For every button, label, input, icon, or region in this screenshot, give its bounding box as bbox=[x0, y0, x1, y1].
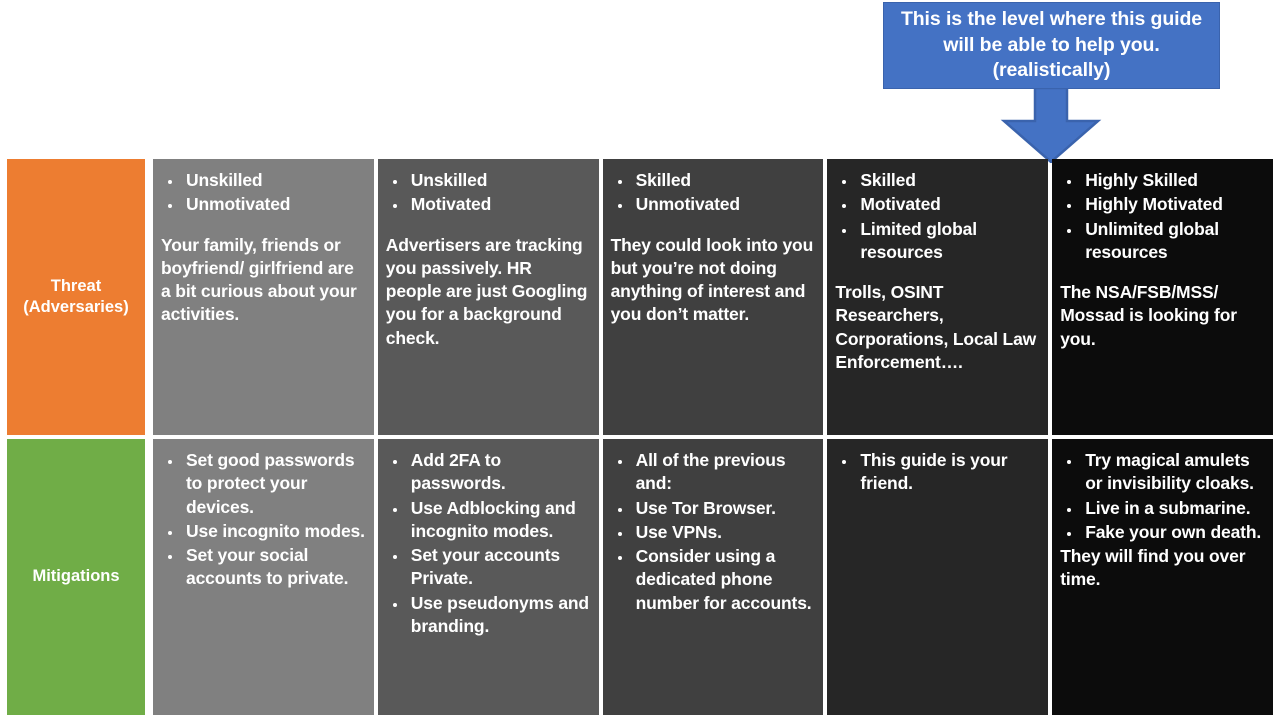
list-item: Skilled bbox=[633, 169, 816, 192]
row-header-threat: Threat (Adversaries) bbox=[7, 159, 145, 435]
list-item: Use VPNs. bbox=[633, 521, 816, 544]
arrow-down-icon bbox=[988, 88, 1114, 163]
mitigations-cell-level-4: This guide is your friend. bbox=[827, 439, 1048, 715]
list-item: Unmotivated bbox=[633, 193, 816, 216]
list-item: Try magical amulets or invisibility cloa… bbox=[1082, 449, 1265, 496]
threat-description-level-5: The NSA/FSB/MSS/ Mossad is looking for y… bbox=[1060, 281, 1265, 351]
row-header-gap bbox=[145, 159, 153, 435]
list-item: Use Adblocking and incognito modes. bbox=[408, 497, 591, 544]
mitigations-bullets-level-1: Set good passwords to protect your devic… bbox=[161, 449, 366, 591]
list-item: Motivated bbox=[408, 193, 591, 216]
list-item: Unlimited global resources bbox=[1082, 218, 1265, 265]
list-item: Add 2FA to passwords. bbox=[408, 449, 591, 496]
threat-cell-level-4: Skilled Motivated Limited global resourc… bbox=[827, 159, 1048, 435]
list-item: Set good passwords to protect your devic… bbox=[183, 449, 366, 519]
list-item: Use incognito modes. bbox=[183, 520, 366, 543]
mitigations-cell-level-1: Set good passwords to protect your devic… bbox=[153, 439, 374, 715]
list-item: Use Tor Browser. bbox=[633, 497, 816, 520]
threat-bullets-level-1: Unskilled Unmotivated bbox=[161, 169, 366, 217]
list-item: Highly Skilled bbox=[1082, 169, 1265, 192]
mitigations-bullets-level-5: Try magical amulets or invisibility cloa… bbox=[1060, 449, 1265, 544]
list-item: Unskilled bbox=[183, 169, 366, 192]
mitigations-cell-level-2: Add 2FA to passwords. Use Adblocking and… bbox=[378, 439, 599, 715]
threat-bullets-level-5: Highly Skilled Highly Motivated Unlimite… bbox=[1060, 169, 1265, 264]
threat-bullets-level-2: Unskilled Motivated bbox=[386, 169, 591, 217]
list-item: Use pseudonyms and branding. bbox=[408, 592, 591, 639]
threat-description-level-1: Your family, friends or boyfriend/ girlf… bbox=[161, 234, 366, 327]
mitigations-bullets-level-4: This guide is your friend. bbox=[835, 449, 1040, 496]
list-item: This guide is your friend. bbox=[857, 449, 1040, 496]
mitigations-cell-level-5: Try magical amulets or invisibility cloa… bbox=[1052, 439, 1273, 715]
list-item: Fake your own death. bbox=[1082, 521, 1265, 544]
callout-box: This is the level where this guide will … bbox=[883, 2, 1220, 89]
list-item: All of the previous and: bbox=[633, 449, 816, 496]
row-header-gap bbox=[145, 439, 153, 715]
row-header-mitigations: Mitigations bbox=[7, 439, 145, 715]
matrix-row-threat: Threat (Adversaries) Unskilled Unmotivat… bbox=[7, 159, 1273, 435]
list-item: Set your social accounts to private. bbox=[183, 544, 366, 591]
threat-model-matrix: Threat (Adversaries) Unskilled Unmotivat… bbox=[7, 159, 1273, 715]
mitigations-bullets-level-3: All of the previous and: Use Tor Browser… bbox=[611, 449, 816, 615]
threat-cell-level-3: Skilled Unmotivated They could look into… bbox=[603, 159, 824, 435]
matrix-row-mitigations: Mitigations Set good passwords to protec… bbox=[7, 439, 1273, 715]
list-item: Consider using a dedicated phone number … bbox=[633, 545, 816, 615]
threat-description-level-3: They could look into you but you’re not … bbox=[611, 234, 816, 327]
list-item: Motivated bbox=[857, 193, 1040, 216]
list-item: Skilled bbox=[857, 169, 1040, 192]
list-item: Live in a submarine. bbox=[1082, 497, 1265, 520]
threat-description-level-4: Trolls, OSINT Researchers, Corporations,… bbox=[835, 281, 1040, 374]
list-item: Set your accounts Private. bbox=[408, 544, 591, 591]
threat-cell-level-5: Highly Skilled Highly Motivated Unlimite… bbox=[1052, 159, 1273, 435]
threat-description-level-2: Advertisers are tracking you passively. … bbox=[386, 234, 591, 350]
mitigations-bullets-level-2: Add 2FA to passwords. Use Adblocking and… bbox=[386, 449, 591, 638]
callout-text: This is the level where this guide will … bbox=[901, 7, 1202, 84]
threat-bullets-level-4: Skilled Motivated Limited global resourc… bbox=[835, 169, 1040, 264]
threat-bullets-level-3: Skilled Unmotivated bbox=[611, 169, 816, 217]
threat-cell-level-2: Unskilled Motivated Advertisers are trac… bbox=[378, 159, 599, 435]
list-item: Highly Motivated bbox=[1082, 193, 1265, 216]
mitigations-cell-level-3: All of the previous and: Use Tor Browser… bbox=[603, 439, 824, 715]
list-item: Limited global resources bbox=[857, 218, 1040, 265]
list-item: Unmotivated bbox=[183, 193, 366, 216]
threat-cell-level-1: Unskilled Unmotivated Your family, frien… bbox=[153, 159, 374, 435]
list-item: Unskilled bbox=[408, 169, 591, 192]
mitigations-note-level-5: They will find you over time. bbox=[1060, 545, 1265, 592]
callout-group: This is the level where this guide will … bbox=[883, 2, 1220, 162]
